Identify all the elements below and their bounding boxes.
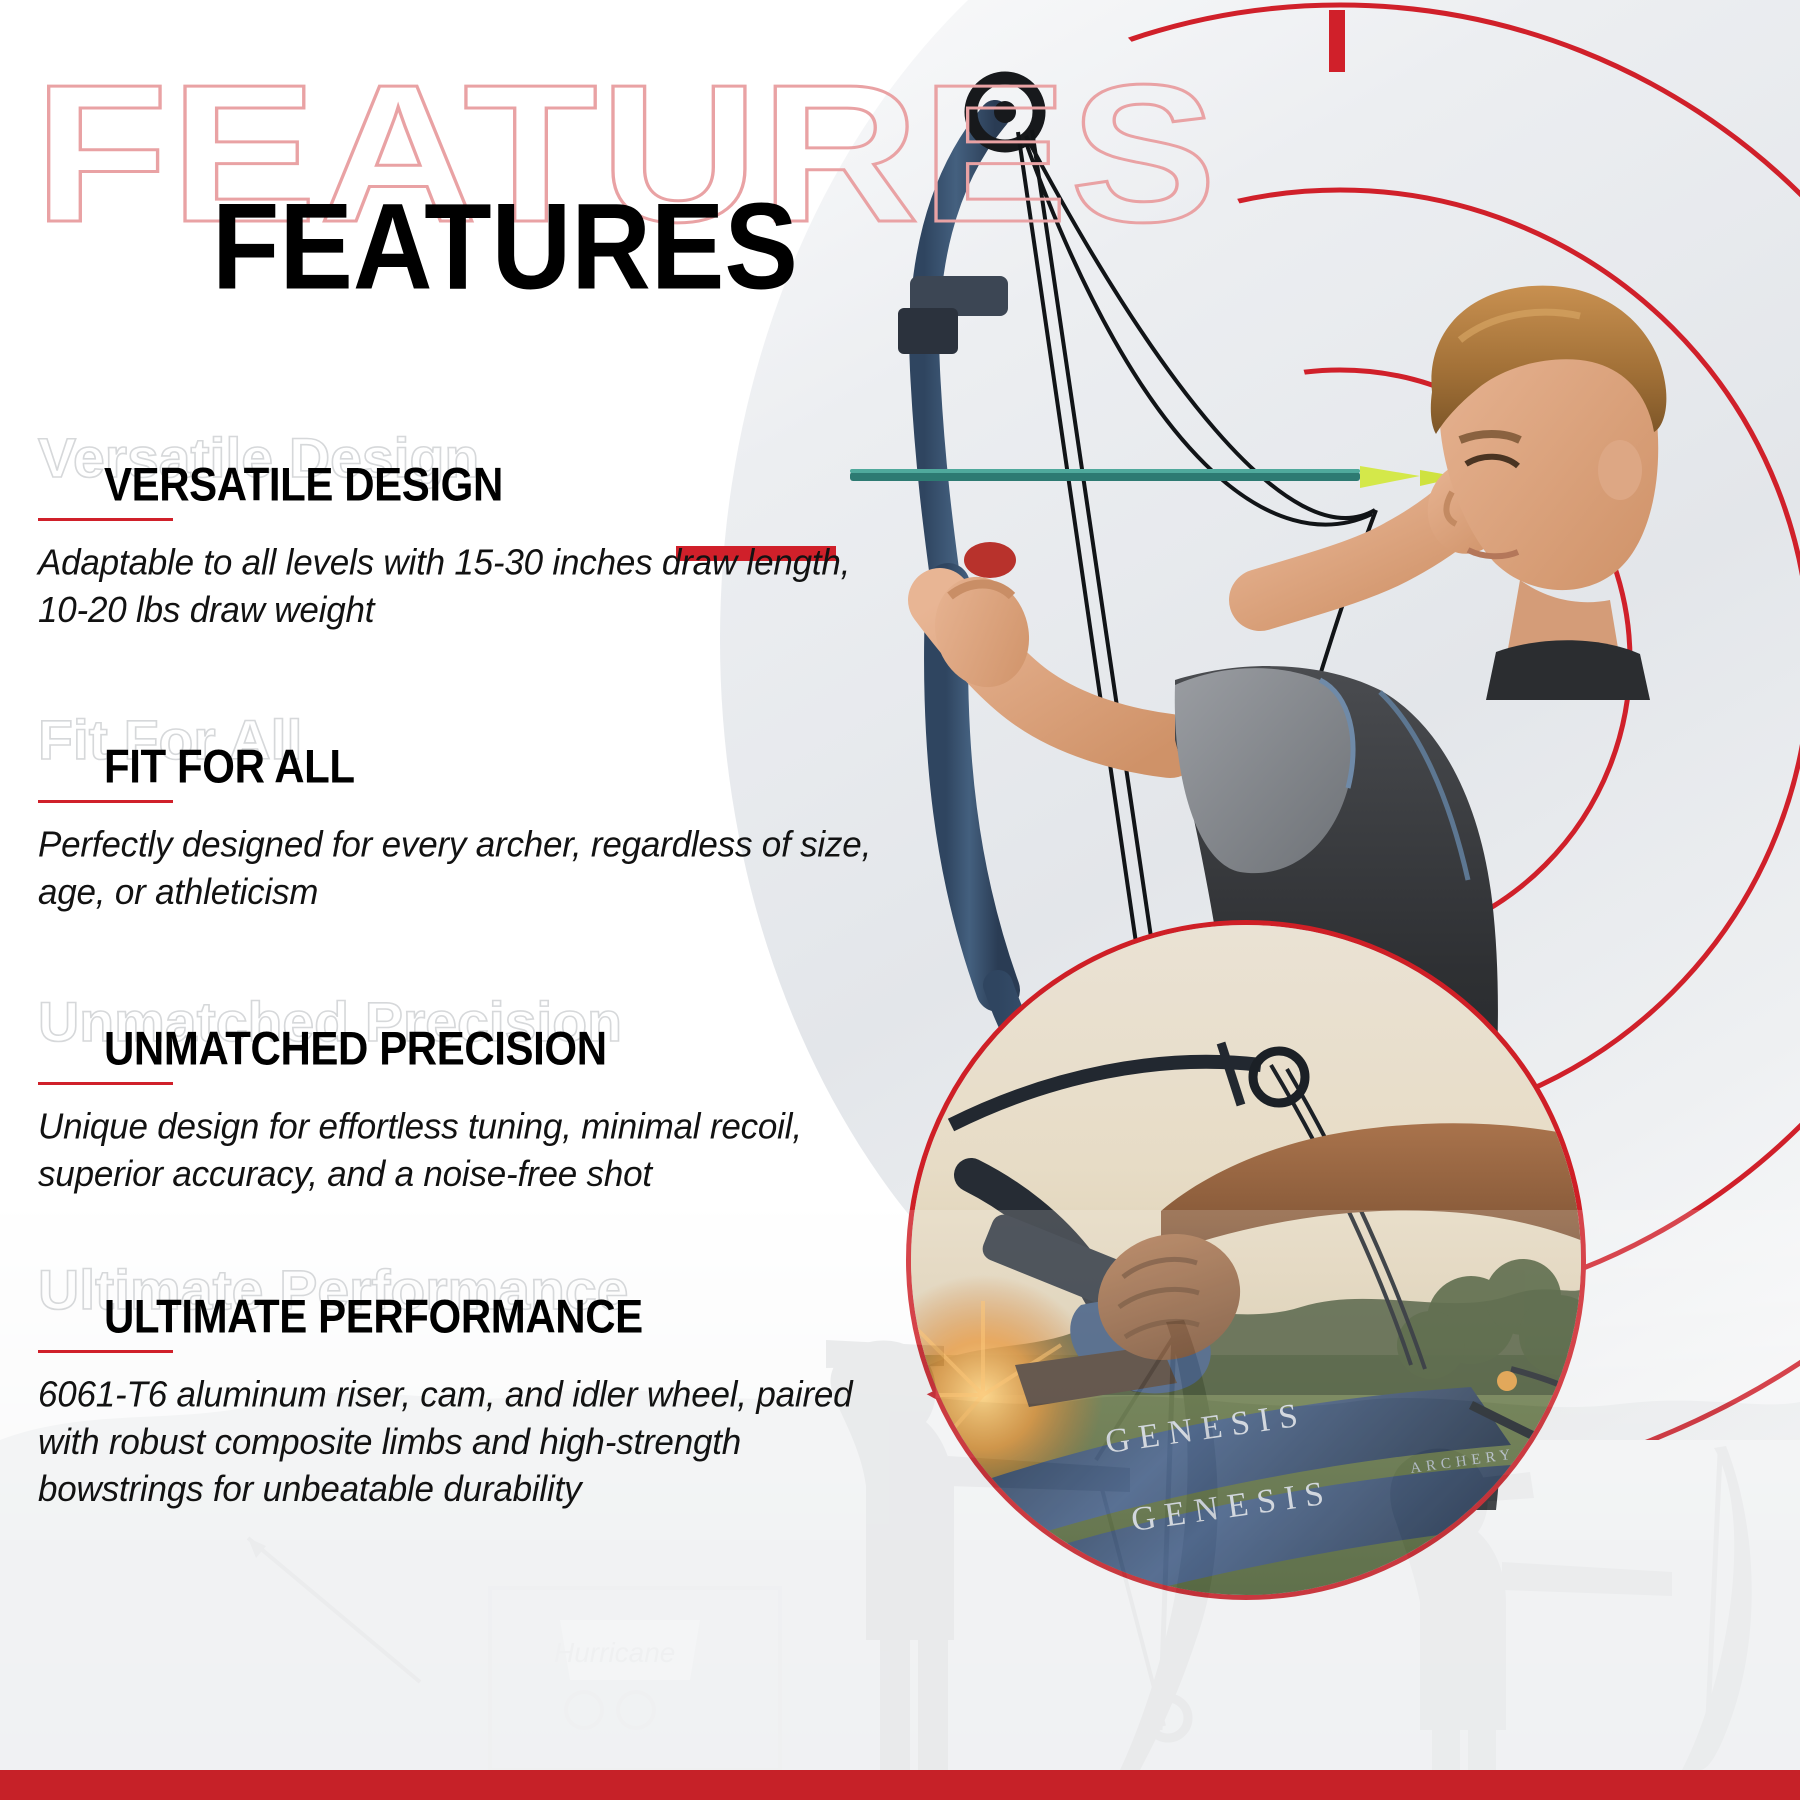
spacer: [0, 920, 900, 994]
spacer: [0, 638, 900, 712]
svg-text:Hurricane: Hurricane: [554, 1637, 675, 1668]
feature-underline: [38, 800, 173, 803]
feature-list: Versatile Design VERSATILE DESIGN Adapta…: [0, 430, 900, 1516]
spacer: [0, 1202, 900, 1262]
feature-infographic-page: GENESIS GENESIS ARCHERY: [0, 0, 1800, 1800]
feature-heading: VERSATILE DESIGN: [104, 430, 900, 508]
feature-body: 6061-T6 aluminum riser, cam, and idler w…: [38, 1371, 898, 1513]
feature-item-ultimate-performance: Ultimate Performance ULTIMATE PERFORMANC…: [0, 1262, 900, 1508]
feature-body: Unique design for effortless tuning, min…: [38, 1103, 898, 1198]
feature-body: Adaptable to all levels with 15-30 inche…: [38, 539, 898, 634]
feature-heading: ULTIMATE PERFORMANCE: [104, 1262, 900, 1340]
feature-underline: [38, 1082, 173, 1085]
feature-item-versatile-design: Versatile Design VERSATILE DESIGN Adapta…: [0, 430, 900, 630]
feature-heading: FIT FOR ALL: [104, 712, 900, 790]
feature-underline: [38, 1350, 173, 1353]
bottom-accent-bar: [0, 1770, 1800, 1800]
feature-item-fit-for-all: Fit For All FIT FOR ALL Perfectly design…: [0, 712, 900, 912]
feature-heading: UNMATCHED PRECISION: [104, 994, 900, 1072]
page-title: FEATURES: [212, 186, 798, 309]
feature-underline: [38, 518, 173, 521]
feature-item-unmatched-precision: Unmatched Precision UNMATCHED PRECISION …: [0, 994, 900, 1194]
feature-body: Perfectly designed for every archer, reg…: [38, 821, 898, 916]
